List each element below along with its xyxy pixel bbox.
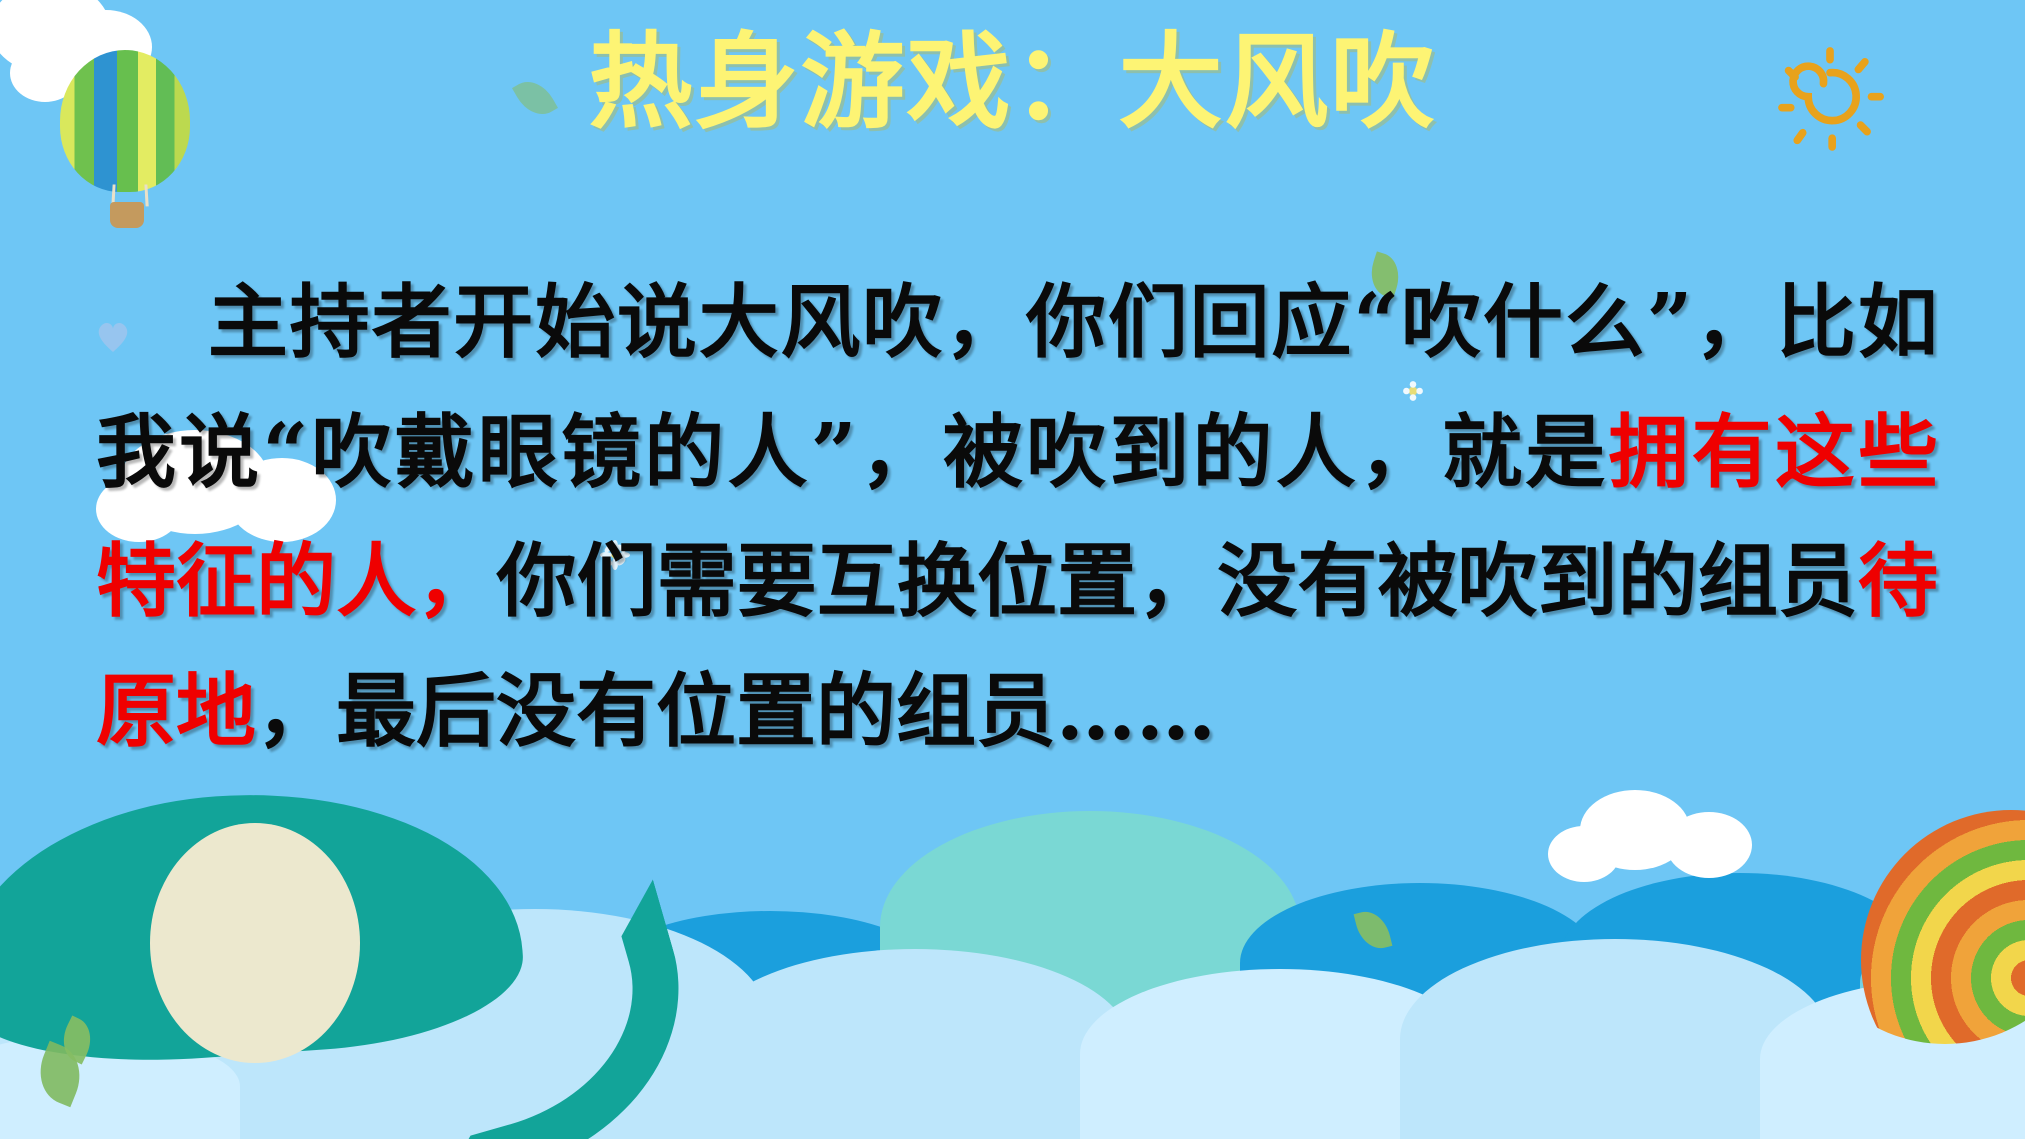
cloud-hills-band <box>0 779 2025 1139</box>
slide-body-text: 主持者开始说大风吹，你们回应“吹什么”，比如我说“吹戴眼镜的人”，被吹到的人，就… <box>96 258 1938 776</box>
elephant-icon <box>0 795 580 1125</box>
body-segment-5: ，最后没有位置的组员…… <box>256 664 1216 758</box>
body-segment-3: 你们需要互换位置，没有被吹到的组员 <box>496 534 1858 628</box>
slide-title: 热身游戏：大风吹 <box>0 26 2025 138</box>
presentation-slide: 热身游戏：大风吹 主持者开始说大风吹，你们回应“吹什么”，比如我说“吹戴眼镜的人… <box>0 0 2025 1139</box>
leaf-icon <box>1354 907 1393 953</box>
rainbow-balloon-icon <box>1795 744 2025 1044</box>
leaf-icon <box>55 1015 99 1064</box>
